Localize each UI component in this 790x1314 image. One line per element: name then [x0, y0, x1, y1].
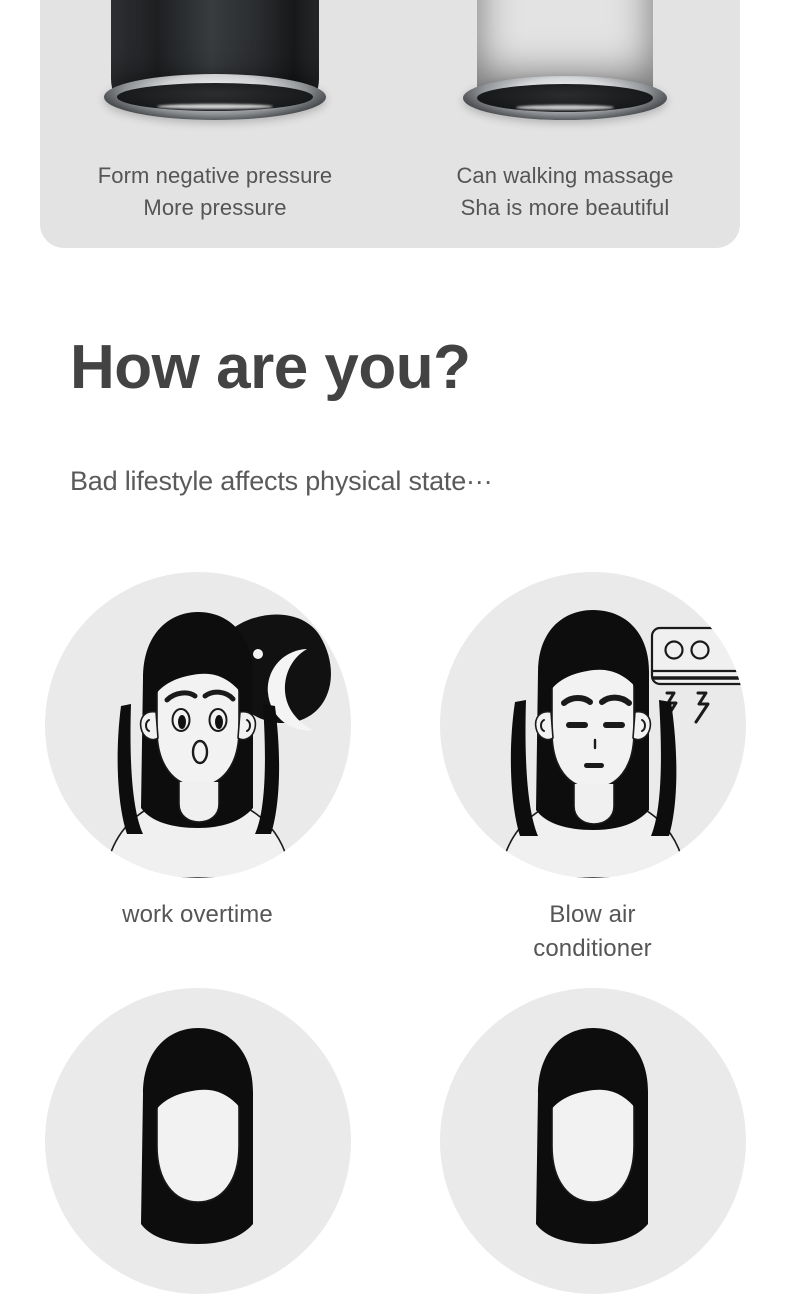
- symptom-label-work-overtime: work overtime: [122, 898, 273, 932]
- symptom-label-blow-air-conditioner: Blow air conditioner: [533, 898, 652, 966]
- woman-with-crescent-moon-illustration: [45, 572, 351, 878]
- symptom-label-work-overtime-line1: work overtime: [122, 898, 273, 932]
- product-feature-cell-right: Can walking massage Sha is more beautifu…: [390, 0, 740, 248]
- product-feature-cell-left: Form negative pressure More pressure: [40, 0, 390, 248]
- symptom-circle-work-overtime: [45, 572, 351, 878]
- black-cupping-cup-tall-photo: [463, 0, 667, 120]
- product-caption-right: Can walking massage Sha is more beautifu…: [456, 160, 673, 224]
- symptom-item-work-overtime: work overtime: [0, 572, 395, 966]
- symptom-label-blow-air-conditioner-line1: Blow air: [533, 898, 652, 932]
- product-caption-left: Form negative pressure More pressure: [98, 160, 333, 224]
- air-conditioner-icon: [652, 628, 746, 684]
- product-caption-right-line2: Sha is more beautiful: [456, 192, 673, 224]
- symptom-item-bottom-right: [395, 988, 790, 1314]
- black-cupping-cup-wide-photo: [104, 0, 326, 120]
- product-caption-left-line2: More pressure: [98, 192, 333, 224]
- product-feature-card: Form negative pressure More pressure Can…: [40, 0, 740, 248]
- symptom-item-bottom-left: [0, 988, 395, 1314]
- symptom-grid: work overtime: [0, 572, 790, 1314]
- ac-dial-right-icon: [691, 642, 708, 659]
- section-subheading: Bad lifestyle affects physical state···: [70, 466, 492, 497]
- symptom-label-blow-air-conditioner-line2: conditioner: [533, 932, 652, 966]
- symptom-circle-bottom-left: [45, 988, 351, 1294]
- ac-dial-left-icon: [665, 642, 682, 659]
- star-icon: [253, 649, 263, 659]
- woman-partial-bottom-left-illustration: [45, 988, 351, 1294]
- woman-with-air-conditioner-illustration: [440, 572, 746, 878]
- symptom-circle-bottom-right: [440, 988, 746, 1294]
- product-caption-left-line1: Form negative pressure: [98, 160, 333, 192]
- product-feature-grid: Form negative pressure More pressure Can…: [40, 0, 740, 248]
- woman-partial-bottom-right-illustration: [440, 988, 746, 1294]
- product-caption-right-line1: Can walking massage: [456, 160, 673, 192]
- symptom-item-blow-air-conditioner: Blow air conditioner: [395, 572, 790, 966]
- section-heading: How are you?: [70, 337, 471, 399]
- symptom-circle-blow-air-conditioner: [440, 572, 746, 878]
